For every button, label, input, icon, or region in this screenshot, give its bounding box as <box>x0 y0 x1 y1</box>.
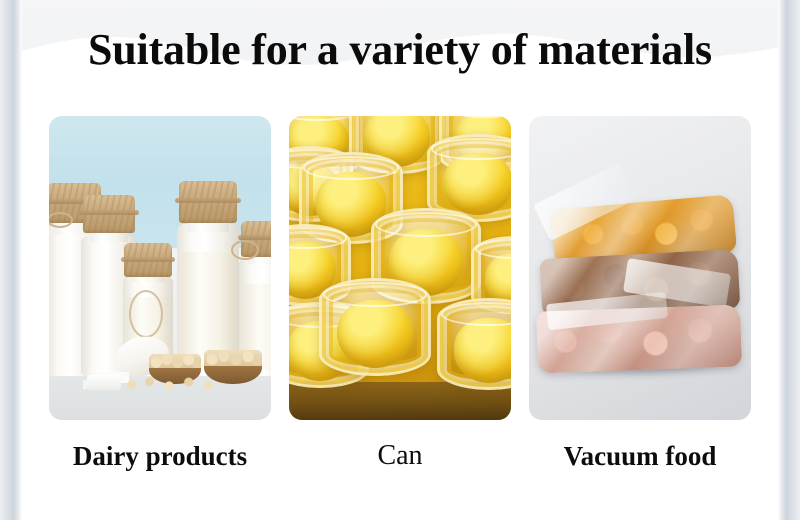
burlap-cap-2 <box>83 195 135 233</box>
dairy-illustration <box>49 116 271 420</box>
slide-root: Suitable for a variety of materials <box>0 0 800 520</box>
burlap-cap-4 <box>179 181 237 223</box>
caption-dairy-products: Dairy products <box>49 440 271 472</box>
peach-jar-11 <box>319 278 431 376</box>
page-title: Suitable for a variety of materials <box>0 24 800 76</box>
image-can[interactable] <box>289 116 511 420</box>
materials-card-row <box>0 116 800 426</box>
card-can[interactable] <box>289 116 511 420</box>
card-dairy-products[interactable] <box>49 116 271 420</box>
caption-can: Can <box>289 440 511 472</box>
burlap-cap-3 <box>124 243 172 277</box>
sugar-cubes <box>87 375 121 390</box>
image-dairy-products[interactable] <box>49 116 271 420</box>
vacuum-food-illustration <box>529 116 751 420</box>
milk-bottle-4 <box>177 184 239 376</box>
twine-5 <box>231 240 259 260</box>
caption-vacuum-food: Vacuum food <box>529 440 751 472</box>
card-vacuum-food[interactable] <box>529 116 751 420</box>
can-illustration <box>289 116 511 420</box>
image-vacuum-food[interactable] <box>529 116 751 420</box>
caption-row: Dairy products Can Vacuum food <box>0 440 800 472</box>
scattered-nuts <box>124 376 222 392</box>
peach-jar-12 <box>437 298 511 390</box>
